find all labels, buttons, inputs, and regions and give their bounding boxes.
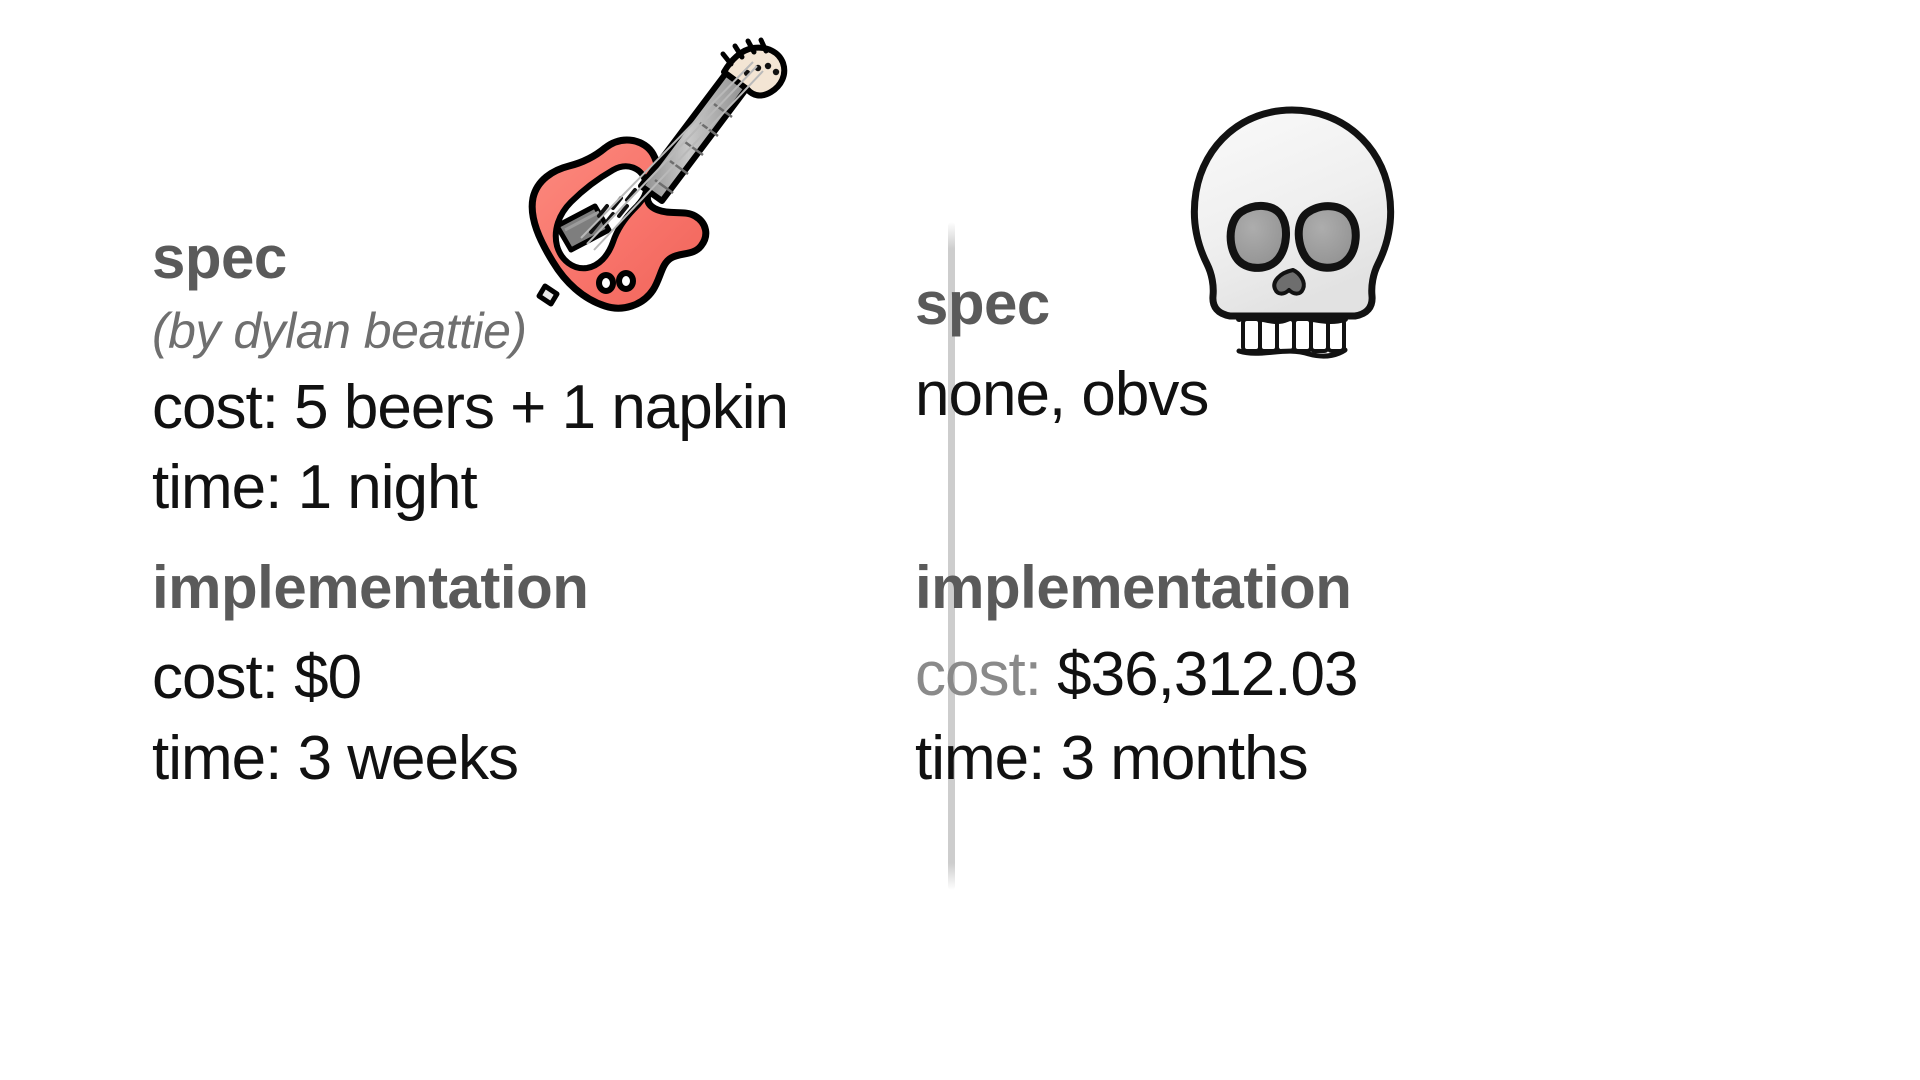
right-implementation-time: time: 3 months <box>915 726 1308 791</box>
left-column: spec (by dylan beattie) cost: 5 beers + … <box>152 0 912 1080</box>
right-implementation-heading: implementation <box>915 556 1351 619</box>
right-implementation-cost: cost: $36,312.03 <box>915 642 1357 707</box>
left-implementation-cost: cost: $0 <box>152 645 361 710</box>
right-spec-value: none, obvs <box>915 362 1208 427</box>
slide-canvas: spec (by dylan beattie) cost: 5 beers + … <box>0 0 1920 1080</box>
left-spec-cost: cost: 5 beers + 1 napkin <box>152 375 788 440</box>
left-implementation-heading: implementation <box>152 556 588 619</box>
right-spec-heading: spec <box>915 272 1050 335</box>
left-spec-byline: (by dylan beattie) <box>152 305 527 358</box>
right-column: spec none, obvs implementation cost: $36… <box>915 0 1815 1080</box>
left-implementation-time: time: 3 weeks <box>152 726 518 791</box>
left-spec-time: time: 1 night <box>152 455 477 520</box>
right-implementation-cost-label: cost: <box>915 640 1041 709</box>
left-spec-heading: spec <box>152 226 287 289</box>
right-implementation-cost-value: $36,312.03 <box>1041 640 1358 709</box>
